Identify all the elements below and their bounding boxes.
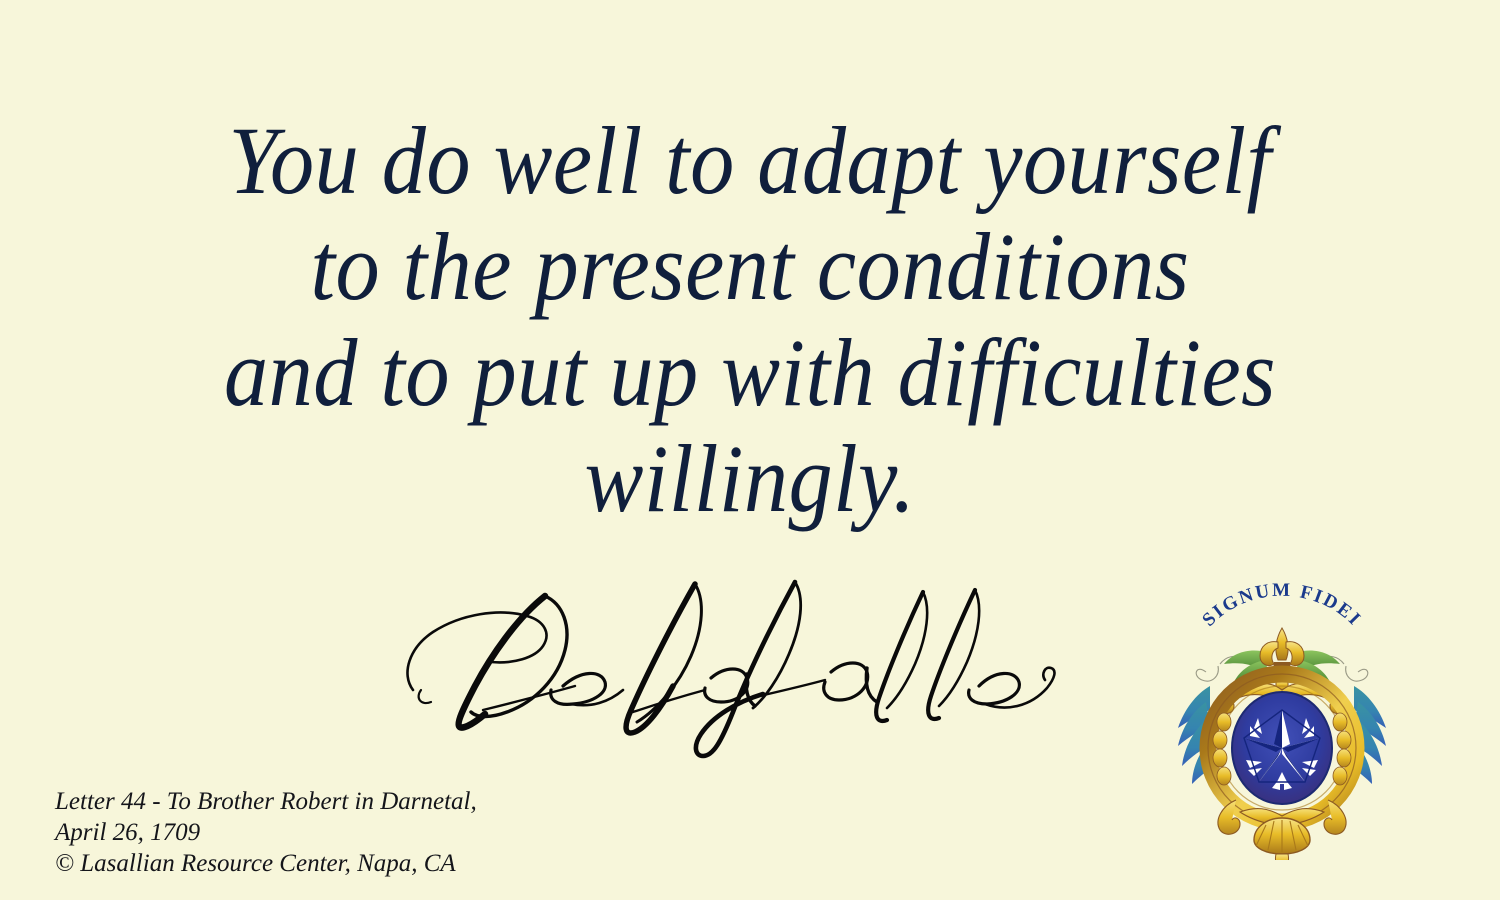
quote-line-3: and to put up with difficulties: [60, 320, 1440, 426]
quote-line-4: willingly.: [60, 426, 1440, 532]
attribution: Letter 44 - To Brother Robert in Darneta…: [55, 786, 477, 879]
quote-line-1: You do well to adapt yourself: [60, 108, 1440, 214]
signature-de-la-salle-svg: De La Salle: [395, 570, 1075, 760]
attribution-date: April 26, 1709: [55, 817, 477, 848]
attribution-copyright: © Lasallian Resource Center, Napa, CA: [55, 848, 477, 879]
scallop-shell: [1254, 818, 1310, 860]
emblem-motto: SIGNUM FIDEI: [1198, 580, 1365, 631]
emblem-motto-text: SIGNUM FIDEI: [1198, 580, 1365, 631]
quote-card: You do well to adapt yourself to the pre…: [0, 0, 1500, 900]
quote-line-2: to the present conditions: [60, 214, 1440, 320]
attribution-source: Letter 44 - To Brother Robert in Darneta…: [55, 786, 477, 817]
quote-block: You do well to adapt yourself to the pre…: [0, 108, 1500, 532]
signature: De La Salle: [395, 570, 1075, 760]
signum-fidei-emblem-svg: SIGNUM FIDEI: [1162, 568, 1402, 860]
signum-fidei-emblem: SIGNUM FIDEI: [1162, 568, 1402, 860]
emblem-motto-textpath: SIGNUM FIDEI: [1198, 580, 1365, 631]
